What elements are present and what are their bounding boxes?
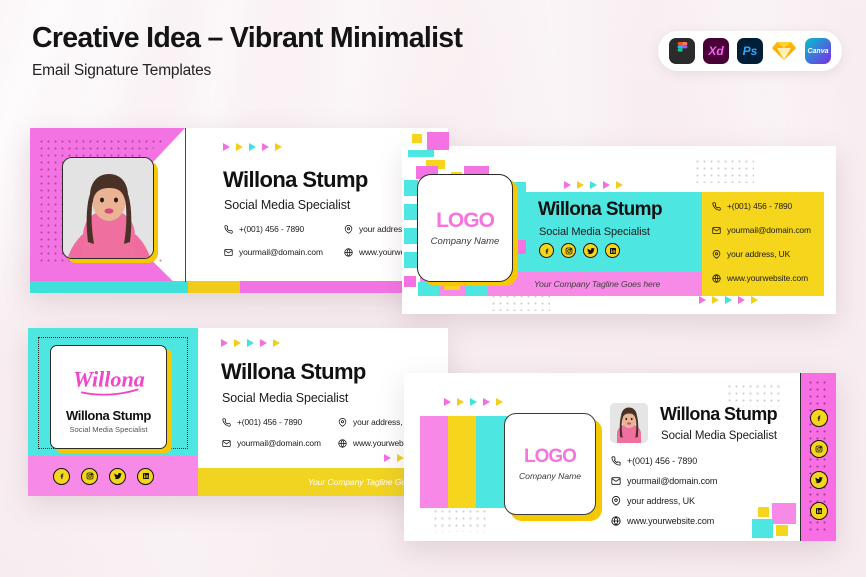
company-tagline: Your Company Tagline Goes here [534, 279, 660, 289]
triangle-icon [616, 181, 623, 189]
triangle-icon [725, 296, 732, 304]
linkedin-icon [142, 472, 150, 480]
deco-square [404, 180, 418, 196]
deco-square [758, 507, 769, 517]
location-icon [344, 225, 353, 234]
instagram-icon [86, 472, 94, 480]
contact-address[interactable]: your address, UK [712, 249, 790, 259]
social-facebook[interactable] [810, 409, 828, 427]
page-subtitle: Email Signature Templates [32, 62, 462, 80]
social-linkedin[interactable] [137, 468, 154, 485]
social-facebook[interactable] [539, 243, 554, 258]
bar-segment-cyan [30, 281, 188, 293]
social-twitter[interactable] [109, 468, 126, 485]
triangle-icon [496, 398, 503, 406]
card1-triangles [223, 143, 282, 151]
triangle-icon [712, 296, 719, 304]
instagram-icon [815, 445, 823, 453]
email-text: yourmail@domain.com [239, 247, 323, 257]
social-instagram[interactable] [561, 243, 576, 258]
linkedin-icon [815, 507, 823, 515]
address-text: your address, UK [627, 496, 695, 506]
social-twitter[interactable] [810, 471, 828, 489]
mail-icon [712, 226, 721, 235]
social-twitter[interactable] [583, 243, 598, 258]
instagram-icon [565, 247, 573, 255]
social-linkedin[interactable] [605, 243, 620, 258]
deco-square [427, 132, 449, 150]
mail-icon [222, 439, 231, 448]
triangle-icon [234, 339, 241, 347]
contact-phone[interactable]: +(001) 456 - 7890 [224, 224, 304, 234]
phone-icon [222, 418, 231, 427]
social-facebook[interactable] [53, 468, 70, 485]
company-logo-subtitle: Company Name [431, 236, 500, 247]
phone-text: +(001) 456 - 7890 [237, 417, 302, 427]
card2-logo-cluster: LOGO Company Name [404, 132, 526, 307]
signature-card-4[interactable]: LOGO Company Name Willona Stump Social M… [404, 373, 836, 541]
person-name: Willona Stump [66, 408, 151, 423]
person-name: Willona Stump [221, 359, 366, 385]
card4-triangles [444, 398, 503, 406]
script-logo: Willona [66, 361, 152, 401]
card2-dot-pattern-top [694, 158, 754, 183]
person-role: Social Media Specialist [661, 430, 777, 442]
deco-square [776, 525, 788, 536]
avatar-photo-4 [610, 403, 648, 443]
triangle-icon [751, 296, 758, 304]
facebook-icon [815, 414, 823, 422]
contact-email[interactable]: yourmail@domain.com [611, 476, 717, 486]
card4-rail-icons [801, 409, 836, 520]
triangle-icon [738, 296, 745, 304]
phone-icon [712, 202, 721, 211]
facebook-icon [58, 472, 66, 480]
company-logo-text: LOGO [436, 210, 494, 231]
email-text: yourmail@domain.com [237, 438, 321, 448]
sketch-icon [771, 38, 797, 64]
globe-icon [338, 439, 347, 448]
triangle-icon [262, 143, 269, 151]
person-name: Willona Stump [538, 199, 662, 221]
social-linkedin[interactable] [810, 502, 828, 520]
deco-square [404, 276, 416, 287]
triangle-icon [275, 143, 282, 151]
card4-stripe-yellow [448, 416, 476, 508]
avatar-photo-1 [62, 157, 154, 259]
deco-square [408, 150, 434, 157]
email-text: yourmail@domain.com [727, 225, 811, 235]
signature-card-1[interactable]: Willona Stump Social Media Specialist +(… [30, 128, 448, 293]
card4-social-rail [800, 373, 836, 541]
contact-email[interactable]: yourmail@domain.com [222, 438, 321, 448]
phone-text: +(001) 456 - 7890 [239, 224, 304, 234]
triangle-icon [699, 296, 706, 304]
triangle-icon [260, 339, 267, 347]
triangle-icon [590, 181, 597, 189]
twitter-icon [114, 472, 122, 480]
signature-card-3[interactable]: Willona Willona Stump Social Media Speci… [28, 328, 448, 496]
triangle-icon [564, 181, 571, 189]
website-text: www.yourwebsite.com [727, 273, 808, 283]
card3-triangles-top [221, 339, 280, 347]
bar-segment-yellow [188, 281, 240, 293]
card1-bottom-bar [30, 281, 448, 293]
card1-divider [185, 128, 186, 282]
deco-square [404, 228, 418, 244]
person-role: Social Media Specialist [222, 391, 348, 405]
card4-stripe-pink [420, 416, 448, 508]
card3-inner-card: Willona Willona Stump Social Media Speci… [50, 345, 167, 449]
address-text: your address, UK [727, 249, 790, 259]
contact-website[interactable]: www.yourwebsite.com [611, 516, 714, 526]
card2-triangles-top [564, 181, 623, 189]
triangle-icon [247, 339, 254, 347]
phone-icon [224, 225, 233, 234]
card3-social-bar [28, 456, 198, 496]
social-instagram[interactable] [81, 468, 98, 485]
globe-icon [611, 516, 621, 526]
location-icon [338, 418, 347, 427]
svg-text:Willona: Willona [73, 366, 145, 391]
page-header: Creative Idea – Vibrant Minimalist Email… [32, 22, 462, 80]
adobe-xd-icon: Xd [703, 38, 729, 64]
email-text: yourmail@domain.com [627, 476, 717, 486]
globe-icon [344, 248, 353, 257]
twitter-icon [587, 247, 595, 255]
contact-website[interactable]: www.yourwebsite.com [712, 273, 808, 283]
deco-square [752, 519, 773, 538]
website-text: www.yourwebsite.com [627, 516, 714, 526]
triangle-icon [223, 143, 230, 151]
mail-icon [611, 476, 621, 486]
person-role: Social Media Specialist [224, 198, 350, 212]
company-logo-text: LOGO [524, 447, 576, 466]
triangle-icon [221, 339, 228, 347]
triangle-icon [457, 398, 464, 406]
figma-icon [669, 38, 695, 64]
canva-icon: Canva [805, 38, 831, 64]
triangle-icon [273, 339, 280, 347]
location-icon [611, 496, 621, 506]
card2-logo-box: LOGO Company Name [417, 174, 513, 282]
phone-text: +(001) 456 - 7890 [727, 201, 792, 211]
triangle-icon [483, 398, 490, 406]
deco-square [404, 204, 418, 220]
triangle-icon [236, 143, 243, 151]
mail-icon [224, 248, 233, 257]
deco-square [772, 503, 796, 524]
triangle-icon [249, 143, 256, 151]
contact-phone[interactable]: +(001) 456 - 7890 [712, 201, 792, 211]
triangle-icon [384, 454, 391, 462]
phone-text: +(001) 456 - 7890 [627, 456, 697, 466]
person-name: Willona Stump [660, 404, 777, 425]
triangle-icon [444, 398, 451, 406]
triangle-icon [577, 181, 584, 189]
page-title: Creative Idea – Vibrant Minimalist [32, 22, 462, 55]
card2-triangles-bottom [699, 296, 758, 304]
phone-icon [611, 456, 621, 466]
triangle-icon [470, 398, 477, 406]
social-instagram[interactable] [810, 440, 828, 458]
linkedin-icon [609, 247, 617, 255]
person-name: Willona Stump [223, 167, 368, 193]
deco-square [412, 134, 422, 143]
contact-address[interactable]: your address, UK [611, 496, 695, 506]
company-logo-subtitle: Company Name [519, 471, 581, 481]
person-role: Social Media Specialist [69, 425, 147, 434]
contact-phone[interactable]: +(001) 456 - 7890 [611, 456, 697, 466]
deco-square [404, 252, 418, 268]
person-role: Social Media Specialist [539, 226, 650, 238]
contact-email[interactable]: yourmail@domain.com [712, 225, 811, 235]
card4-dot-pattern-bottom [432, 508, 490, 532]
card4-logo-box: LOGO Company Name [504, 413, 596, 515]
triangle-icon [397, 454, 404, 462]
triangle-icon [603, 181, 610, 189]
card2-social-row [539, 243, 620, 258]
twitter-icon [815, 476, 823, 484]
photoshop-icon: Ps [737, 38, 763, 64]
facebook-icon [543, 247, 551, 255]
globe-icon [712, 274, 721, 283]
contact-phone[interactable]: +(001) 456 - 7890 [222, 417, 302, 427]
location-icon [712, 250, 721, 259]
contact-email[interactable]: yourmail@domain.com [224, 247, 323, 257]
app-compatibility-badges: Xd Ps Canva [658, 31, 842, 71]
